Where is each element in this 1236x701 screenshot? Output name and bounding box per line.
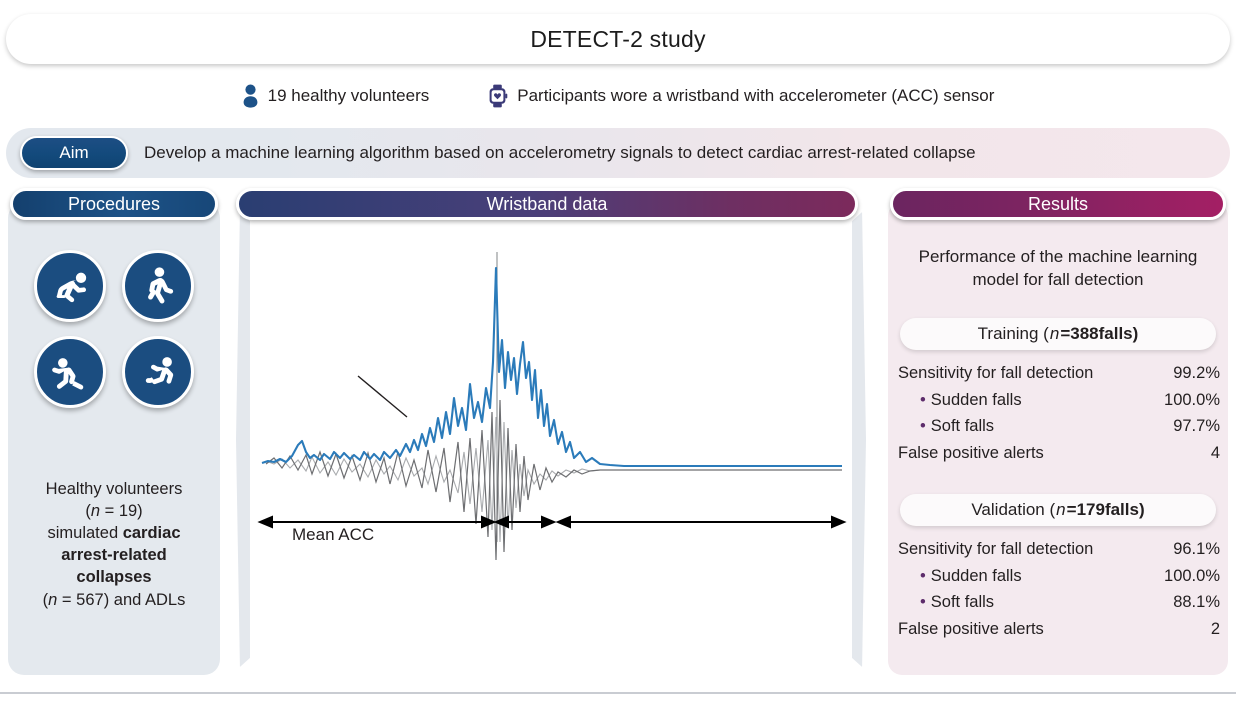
row-label: False positive alerts — [898, 440, 1044, 467]
table-row: Sensitivity for fall detection 96.1% — [898, 536, 1220, 563]
results-validation-subheader: Validation (n = 179 falls) — [900, 494, 1216, 526]
results-validation-rows: Sensitivity for fall detection 96.1% •Su… — [898, 536, 1220, 643]
page-title: DETECT-2 study — [530, 26, 705, 53]
procedures-caption-line-4: arrest-related — [61, 546, 166, 564]
procedures-caption-line-1: Healthy volunteers — [46, 480, 183, 498]
row-label: False positive alerts — [898, 616, 1044, 643]
row-value: 100.0% — [1164, 563, 1220, 590]
results-training-subheader: Training (n = 388 falls) — [900, 318, 1216, 350]
row-label: Sensitivity for fall detection — [898, 536, 1093, 563]
row-value: 97.7% — [1173, 413, 1220, 440]
bottom-divider — [0, 692, 1236, 694]
table-row: False positive alerts 2 — [898, 616, 1220, 643]
meta-device-label: Participants wore a wristband with accel… — [517, 86, 994, 106]
panels-row: Procedures — [0, 188, 1236, 685]
study-title-bar: DETECT-2 study — [6, 14, 1230, 64]
aim-text: Develop a machine learning algorithm bas… — [144, 143, 976, 163]
row-label: Sensitivity for fall detection — [898, 360, 1093, 387]
crawling-person-icon — [34, 250, 106, 322]
meta-participants-label: 19 healthy volunteers — [268, 86, 430, 106]
row-label: •Soft falls — [898, 589, 994, 616]
results-intro: Performance of the machine learning mode… — [888, 246, 1228, 292]
wristband-header: Wristband data — [236, 188, 858, 220]
table-row: Sensitivity for fall detection 99.2% — [898, 360, 1220, 387]
row-label: •Sudden falls — [898, 387, 1022, 414]
results-training-rows: Sensitivity for fall detection 99.2% •Su… — [898, 360, 1220, 467]
bullet-icon: • — [920, 567, 931, 585]
row-value: 100.0% — [1164, 387, 1220, 414]
meta-item-participants: 19 healthy volunteers — [242, 84, 430, 108]
row-value: 4 — [1211, 440, 1220, 467]
procedures-caption-line-6: (n = 567) and ADLs — [43, 591, 186, 609]
acc-signal-chart — [250, 212, 852, 667]
mean-acc-annotation: Mean ACC — [292, 525, 374, 545]
meta-item-device: Participants wore a wristband with accel… — [487, 84, 994, 108]
aim-chip: Aim — [20, 136, 128, 170]
falling-person-icon — [34, 336, 106, 408]
row-value: 96.1% — [1173, 536, 1220, 563]
study-meta-row: 19 healthy volunteers Participants wore … — [0, 72, 1236, 120]
bullet-icon: • — [920, 417, 931, 435]
infographic-root: DETECT-2 study 19 healthy volunteers — [0, 0, 1236, 701]
table-row: •Sudden falls 100.0% — [898, 387, 1220, 414]
row-label: •Soft falls — [898, 413, 994, 440]
table-row: •Sudden falls 100.0% — [898, 563, 1220, 590]
table-row: •Soft falls 88.1% — [898, 589, 1220, 616]
table-row: •Soft falls 97.7% — [898, 413, 1220, 440]
results-header: Results — [890, 188, 1226, 220]
procedures-caption: Healthy volunteers (n = 19) simulated ca… — [8, 478, 220, 611]
table-row: False positive alerts 4 — [898, 440, 1220, 467]
aim-bar: Aim Develop a machine learning algorithm… — [6, 128, 1230, 178]
procedures-header: Procedures — [10, 188, 218, 220]
bullet-icon: • — [920, 593, 931, 611]
person-icon — [242, 84, 259, 108]
row-value: 99.2% — [1173, 360, 1220, 387]
row-label: •Sudden falls — [898, 563, 1022, 590]
row-value: 2 — [1211, 616, 1220, 643]
procedures-caption-line-3: simulated cardiac — [48, 524, 181, 542]
procedures-caption-line-2: (n = 19) — [85, 502, 142, 520]
row-value: 88.1% — [1173, 589, 1220, 616]
procedures-icon-grid — [8, 250, 220, 408]
walking-person-icon — [122, 250, 194, 322]
running-falling-person-icon — [122, 336, 194, 408]
bullet-icon: • — [920, 391, 931, 409]
smartwatch-icon — [487, 84, 508, 108]
procedures-caption-line-5: collapses — [76, 568, 151, 586]
